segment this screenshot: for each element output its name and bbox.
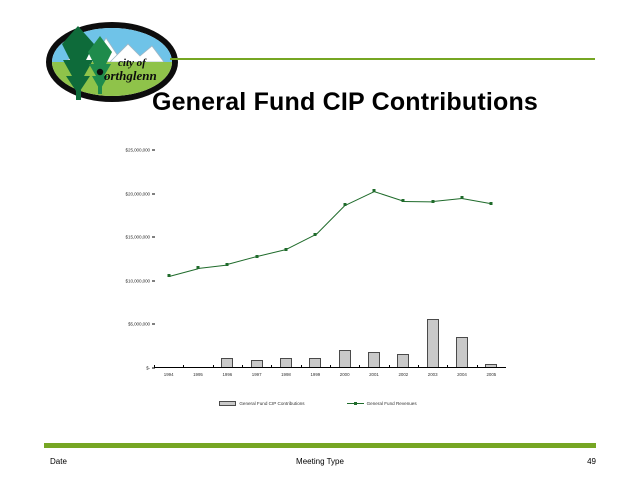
chart-data-point: [461, 196, 464, 199]
chart-bar: [456, 337, 468, 368]
x-axis-tick-label: 1996: [222, 372, 232, 377]
legend-item-line: General Fund Revenues: [347, 401, 417, 406]
x-axis-tick: [154, 365, 155, 368]
y-axis-tick-label: $10,000,000: [126, 278, 150, 283]
x-axis-tick-label: 2002: [398, 372, 408, 377]
chart-data-point: [402, 199, 405, 202]
x-axis-tick: [301, 365, 302, 368]
chart-data-point: [197, 266, 200, 269]
chart-line-segment: [315, 205, 345, 235]
plot-area: [154, 150, 506, 368]
x-axis-tick-label: 1994: [164, 372, 174, 377]
chart-bar: [427, 319, 439, 368]
chart-line-segment: [462, 198, 491, 204]
y-axis-labels: $-$5,000,000$10,000,000$15,000,000$20,00…: [118, 150, 152, 368]
chart-data-point: [431, 200, 434, 203]
chart-data-point: [255, 255, 258, 258]
chart-line-segment: [374, 191, 404, 202]
chart-data-point: [226, 263, 229, 266]
footer-page-number: 49: [587, 457, 596, 466]
y-axis-tick: [152, 237, 155, 238]
chart-data-point: [314, 233, 317, 236]
chart-line-segment: [169, 268, 199, 277]
logo-text-northglenn: orthglenn: [104, 68, 157, 83]
chart-legend: General Fund CIP Contributions General F…: [118, 401, 518, 406]
chart-data-point: [373, 189, 376, 192]
chart-bar: [397, 354, 409, 368]
x-axis-tick: [330, 365, 331, 368]
legend-label-line: General Fund Revenues: [367, 401, 417, 406]
x-axis-tick-label: 2000: [340, 372, 350, 377]
legend-item-bars: General Fund CIP Contributions: [219, 401, 304, 406]
chart-line-segment: [433, 198, 462, 202]
y-axis-tick: [152, 324, 155, 325]
x-axis-labels: 1994199519961997199819992000200120022003…: [154, 372, 506, 384]
x-axis-tick-label: 1995: [193, 372, 203, 377]
header-divider: [170, 58, 595, 60]
x-axis-tick-label: 1999: [310, 372, 320, 377]
y-axis-tick: [152, 150, 155, 151]
footer: Date Meeting Type 49: [44, 455, 596, 471]
x-axis-tick-label: 2004: [457, 372, 467, 377]
x-axis-tick: [213, 365, 214, 368]
footer-meeting-type: Meeting Type: [296, 457, 344, 466]
chart-bar: [368, 352, 380, 368]
chart-line-segment: [257, 249, 287, 257]
chart-general-fund-cip: $-$5,000,000$10,000,000$15,000,000$20,00…: [118, 138, 518, 410]
footer-divider: [44, 443, 596, 448]
chart-data-point: [285, 248, 288, 251]
legend-label-bars: General Fund CIP Contributions: [239, 401, 304, 406]
legend-swatch-line-icon: [347, 401, 364, 406]
x-axis-tick: [271, 365, 272, 368]
chart-line-segment: [198, 264, 227, 268]
x-axis-tick: [418, 365, 419, 368]
x-axis-tick: [242, 365, 243, 368]
x-axis-tick: [183, 365, 184, 368]
chart-line-segment: [403, 201, 432, 202]
y-axis-tick-label: $20,000,000: [126, 191, 150, 196]
x-axis-tick: [447, 365, 448, 368]
y-axis-tick-label: $15,000,000: [126, 235, 150, 240]
chart-line-segment: [286, 235, 316, 251]
footer-date: Date: [50, 457, 67, 466]
chart-bar: [339, 350, 351, 368]
chart-line-segment: [227, 256, 257, 265]
slide: city of orthglenn General Fund CIP Contr…: [0, 0, 640, 480]
x-axis-tick: [359, 365, 360, 368]
y-axis-tick-label: $25,000,000: [126, 148, 150, 153]
x-axis-tick-label: 1998: [281, 372, 291, 377]
page-title: General Fund CIP Contributions: [0, 88, 640, 117]
y-axis-tick-label: $5,000,000: [128, 322, 150, 327]
legend-swatch-bar-icon: [219, 401, 236, 406]
chart-data-point: [490, 202, 493, 205]
x-axis-tick: [477, 365, 478, 368]
x-axis-tick: [389, 365, 390, 368]
chart-data-point: [167, 274, 170, 277]
x-axis-tick-label: 2001: [369, 372, 379, 377]
x-axis-tick-label: 1997: [252, 372, 262, 377]
chart-line-segment: [345, 191, 375, 206]
x-axis-tick-label: 2005: [486, 372, 496, 377]
y-axis-tick-label: $-: [146, 366, 150, 371]
chart-data-point: [343, 203, 346, 206]
y-axis-tick: [152, 193, 155, 194]
y-axis-tick: [152, 280, 155, 281]
x-axis-tick-label: 2003: [428, 372, 438, 377]
